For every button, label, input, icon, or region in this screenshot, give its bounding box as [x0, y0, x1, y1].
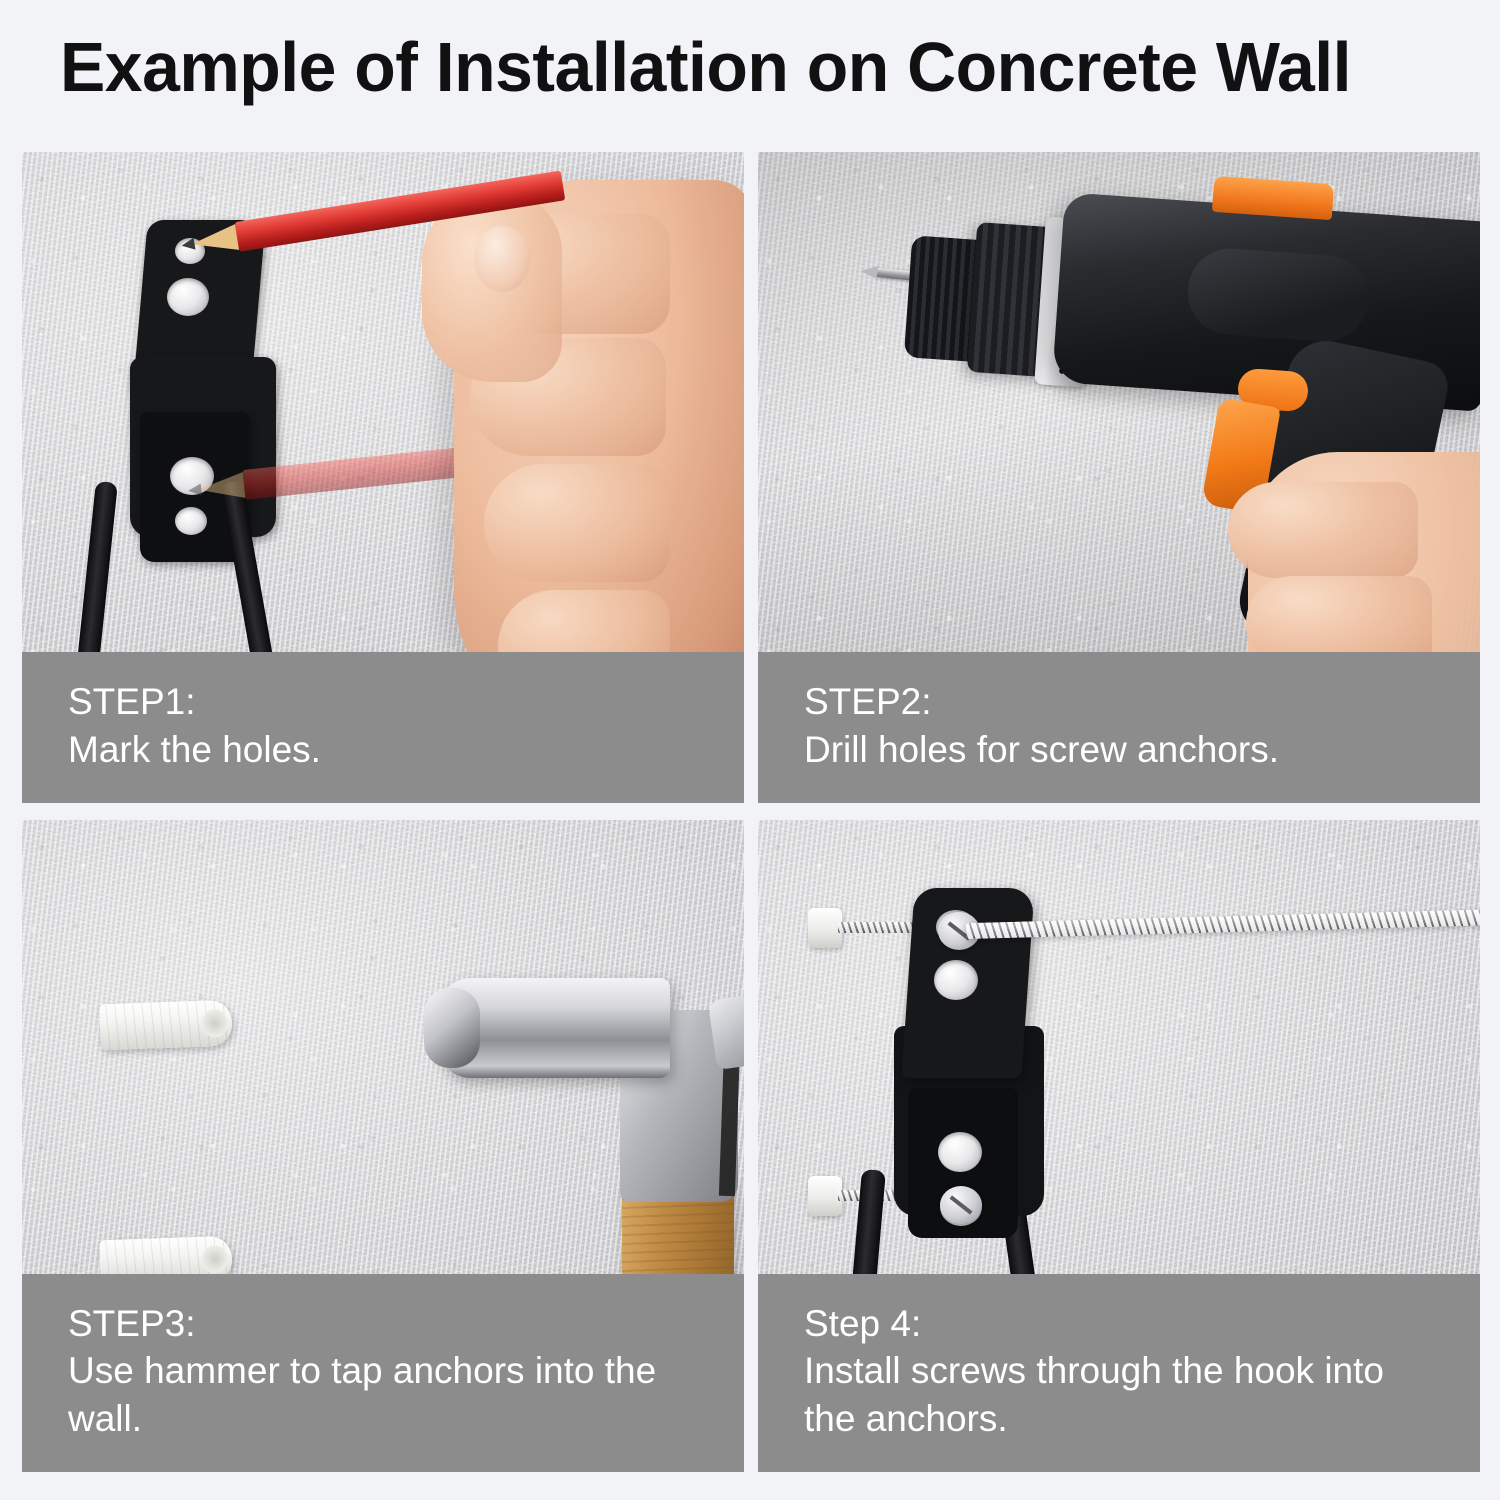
mounting-hole: [938, 1132, 982, 1172]
step-1-panel: STEP1: Mark the holes.: [22, 152, 744, 803]
step-2-label: STEP2:: [804, 678, 1434, 725]
step-3-caption: STEP3: Use hammer to tap anchors into th…: [22, 1274, 744, 1472]
wall-anchor: [808, 1176, 842, 1216]
mounting-hole: [934, 960, 978, 1000]
step-1-label: STEP1:: [68, 678, 698, 725]
anchor-ribs: [99, 1000, 233, 1051]
step-2-text: Drill holes for screw anchors.: [804, 726, 1434, 773]
mounting-hole: [167, 278, 209, 316]
page-title: Example of Installation on Concrete Wall: [60, 32, 1418, 102]
step-2-caption: STEP2: Drill holes for screw anchors.: [758, 652, 1480, 803]
step-3-text: Use hammer to tap anchors into the wall.: [68, 1347, 698, 1442]
finger: [1228, 482, 1418, 578]
step-4-panel: Step 4: Install screws through the hook …: [758, 820, 1480, 1472]
wall-anchor: [99, 1000, 233, 1051]
thumbnail: [474, 226, 530, 292]
wall-anchor: [808, 908, 842, 948]
step-4-caption: Step 4: Install screws through the hook …: [758, 1274, 1480, 1472]
finger: [484, 464, 670, 582]
screw-head: [940, 1186, 982, 1224]
drill-side-pad: [1185, 246, 1371, 344]
step-1-text: Mark the holes.: [68, 726, 698, 773]
step-2-panel: 13 11 9 STEP2: Drill holes for screw anc…: [758, 152, 1480, 803]
step-3-panel: STEP3: Use hammer to tap anchors into th…: [22, 820, 744, 1472]
hammer-striking-face: [424, 988, 480, 1068]
step-4-label: Step 4:: [804, 1300, 1434, 1347]
installation-steps-grid: STEP1: Mark the holes. 13 11 9 STEP2:: [22, 152, 1480, 1472]
step-4-text: Install screws through the hook into the…: [804, 1347, 1434, 1442]
mounting-hole: [175, 507, 207, 535]
step-3-label: STEP3:: [68, 1300, 698, 1347]
step-1-caption: STEP1: Mark the holes.: [22, 652, 744, 803]
